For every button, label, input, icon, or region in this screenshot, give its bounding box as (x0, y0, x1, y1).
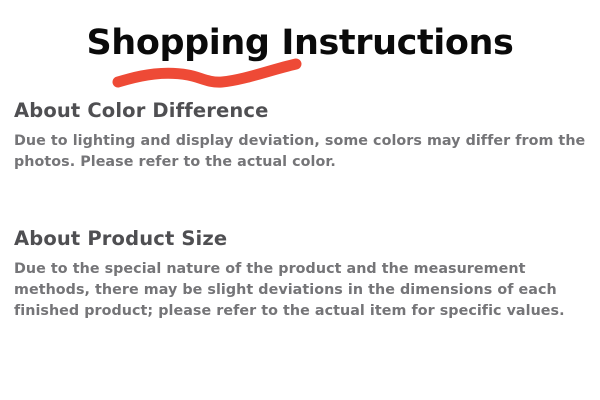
section-body: Due to the special nature of the product… (14, 259, 587, 321)
section-body: Due to lighting and display deviation, s… (14, 131, 587, 172)
shopping-instructions-card: Shopping Instructions About Color Differ… (0, 0, 600, 400)
section-heading: About Color Difference (14, 100, 587, 121)
section-product-size: About Product Size Due to the special na… (14, 228, 587, 322)
section-heading: About Product Size (14, 228, 587, 249)
section-color-difference: About Color Difference Due to lighting a… (14, 100, 587, 173)
title-block: Shopping Instructions (0, 0, 600, 100)
page-title: Shopping Instructions (0, 26, 600, 61)
sections-list: About Color Difference Due to lighting a… (0, 100, 600, 321)
